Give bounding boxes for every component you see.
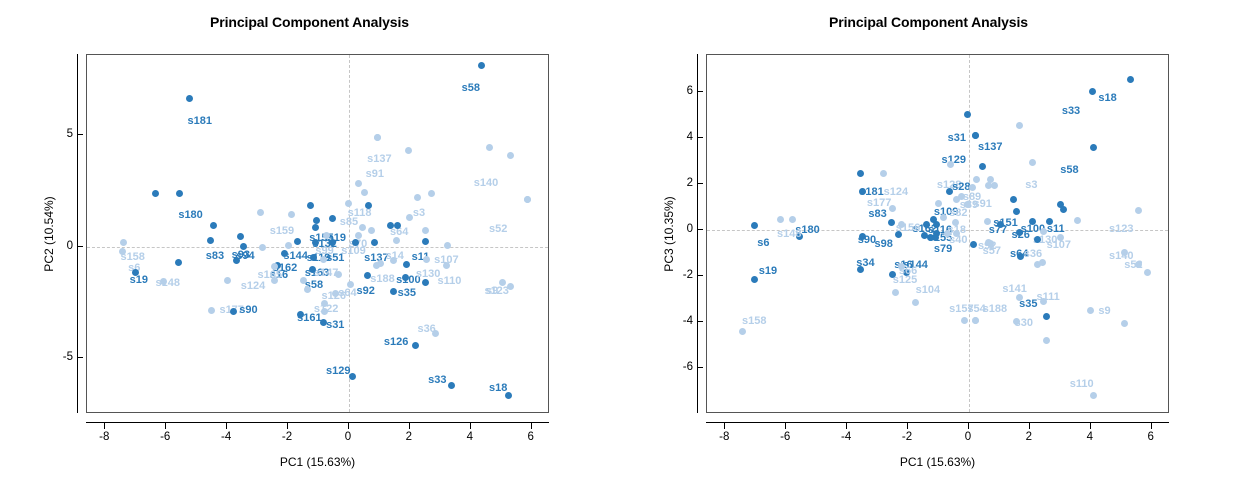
scatter-point[interactable] xyxy=(285,242,292,249)
scatter-point[interactable] xyxy=(935,200,942,207)
scatter-point-label: s177 xyxy=(867,198,891,209)
scatter-point[interactable] xyxy=(393,237,400,244)
scatter-point[interactable] xyxy=(739,328,746,335)
plot-area: s58s181s137s91s140s180s118s3s52s85s159s6… xyxy=(86,54,549,413)
scatter-point-label: s33 xyxy=(428,375,446,386)
scatter-point[interactable] xyxy=(973,176,980,183)
scatter-point[interactable] xyxy=(364,272,371,279)
scatter-point[interactable] xyxy=(312,239,319,246)
y-axis-tick-label: -5 xyxy=(63,351,73,363)
scatter-point-label: s148 xyxy=(777,229,801,240)
scatter-point[interactable] xyxy=(1010,196,1017,203)
x-axis-tick-label: 2 xyxy=(1026,431,1032,443)
gridline-vertical-zero xyxy=(969,55,970,412)
scatter-point-label: s180 xyxy=(178,210,202,221)
scatter-point-label: s159 xyxy=(270,226,294,237)
scatter-point-label: s33 xyxy=(1062,106,1080,117)
scatter-point-label: s161 xyxy=(297,313,321,324)
chart-title: Principal Component Analysis xyxy=(619,14,1238,30)
x-axis-tick-label: -2 xyxy=(282,431,292,443)
scatter-point-label: s18 xyxy=(489,383,507,394)
y-axis-tick xyxy=(697,229,703,230)
scatter-point[interactable] xyxy=(335,271,342,278)
scatter-point[interactable] xyxy=(176,190,183,197)
y-axis-tick-label: 6 xyxy=(687,85,693,97)
scatter-point[interactable] xyxy=(443,262,450,269)
y-axis-tick xyxy=(77,357,83,358)
x-axis-tick xyxy=(409,423,410,429)
scatter-point[interactable] xyxy=(390,257,397,264)
scatter-point[interactable] xyxy=(1060,206,1067,213)
scatter-point[interactable] xyxy=(368,227,375,234)
y-axis-tick xyxy=(697,275,703,276)
scatter-point-label: s141 xyxy=(1002,284,1026,295)
scatter-point[interactable] xyxy=(320,256,327,263)
scatter-point[interactable] xyxy=(208,307,215,314)
scatter-point-label: s79 xyxy=(934,244,952,255)
y-axis-line xyxy=(697,54,698,413)
scatter-point[interactable] xyxy=(888,219,895,226)
scatter-point-label: s107 xyxy=(1047,240,1071,251)
scatter-point-label: s140 xyxy=(474,178,498,189)
scatter-point[interactable] xyxy=(120,239,127,246)
scatter-point[interactable] xyxy=(390,288,397,295)
scatter-point[interactable] xyxy=(403,261,410,268)
scatter-point-label: s110 xyxy=(438,276,462,287)
x-axis-line xyxy=(86,422,549,423)
scatter-point[interactable] xyxy=(406,214,413,221)
x-axis-tick xyxy=(287,423,288,429)
plot-area: s18s33s31s137s129s58s128s28s3s181s124s17… xyxy=(706,54,1169,413)
x-axis-tick xyxy=(1151,423,1152,429)
scatter-point[interactable] xyxy=(300,277,307,284)
scatter-point-label: s90 xyxy=(239,305,257,316)
x-axis-tick-label: 4 xyxy=(467,431,473,443)
scatter-point[interactable] xyxy=(304,286,311,293)
scatter-point-label: s111 xyxy=(1037,292,1060,303)
scatter-point[interactable] xyxy=(428,190,435,197)
scatter-point[interactable] xyxy=(972,132,979,139)
x-axis-tick-label: 2 xyxy=(406,431,412,443)
scatter-point-label: s82 xyxy=(949,208,967,219)
scatter-point[interactable] xyxy=(444,242,451,249)
y-axis-tick xyxy=(77,246,83,247)
scatter-point[interactable] xyxy=(352,239,359,246)
scatter-point[interactable] xyxy=(374,134,381,141)
x-axis-tick-label: -8 xyxy=(719,431,729,443)
x-axis-tick-label: 6 xyxy=(528,431,534,443)
scatter-point-label: s83 xyxy=(868,209,886,220)
y-axis-tick xyxy=(697,137,703,138)
scatter-point[interactable] xyxy=(789,216,796,223)
scatter-point[interactable] xyxy=(486,144,493,151)
scatter-point-label: s26 xyxy=(1012,230,1030,241)
scatter-point[interactable] xyxy=(1127,76,1134,83)
scatter-point-label: s92 xyxy=(357,286,375,297)
x-axis-tick xyxy=(1029,423,1030,429)
y-axis-line xyxy=(77,54,78,413)
x-axis-tick-label: -8 xyxy=(99,431,109,443)
scatter-point[interactable] xyxy=(422,279,429,286)
scatter-point[interactable] xyxy=(359,224,366,231)
scatter-point[interactable] xyxy=(1016,122,1023,129)
scatter-point[interactable] xyxy=(237,233,244,240)
x-axis-tick xyxy=(1090,423,1091,429)
scatter-point[interactable] xyxy=(175,259,182,266)
y-axis-tick-label: 4 xyxy=(687,131,693,143)
scatter-point[interactable] xyxy=(979,163,986,170)
scatter-point[interactable] xyxy=(1121,320,1128,327)
scatter-point[interactable] xyxy=(307,202,314,209)
y-axis-tick-label: 5 xyxy=(67,128,73,140)
scatter-point[interactable] xyxy=(422,227,429,234)
scatter-point[interactable] xyxy=(423,256,430,263)
scatter-point-label: s104 xyxy=(916,285,940,296)
scatter-point-label: s181 xyxy=(187,116,211,127)
scatter-point[interactable] xyxy=(373,262,380,269)
scatter-point-label: s9 xyxy=(1098,306,1110,317)
scatter-point[interactable] xyxy=(1039,259,1046,266)
scatter-point[interactable] xyxy=(777,216,784,223)
scatter-point-label: s58 xyxy=(1060,165,1078,176)
x-axis-tick xyxy=(724,423,725,429)
scatter-point[interactable] xyxy=(751,276,758,283)
scatter-point-label: s148 xyxy=(155,278,179,289)
x-axis-line xyxy=(706,422,1169,423)
scatter-point[interactable] xyxy=(207,237,214,244)
scatter-point[interactable] xyxy=(1144,269,1151,276)
scatter-point[interactable] xyxy=(1090,392,1097,399)
scatter-point[interactable] xyxy=(448,382,455,389)
x-axis-tick xyxy=(785,423,786,429)
x-axis-tick xyxy=(907,423,908,429)
scatter-point[interactable] xyxy=(294,238,301,245)
scatter-point[interactable] xyxy=(371,239,378,246)
x-axis-tick xyxy=(226,423,227,429)
scatter-point[interactable] xyxy=(961,317,968,324)
y-axis-tick-label: -4 xyxy=(683,315,693,327)
scatter-point-label: s188 xyxy=(983,304,1007,315)
x-axis-tick xyxy=(165,423,166,429)
scatter-point[interactable] xyxy=(259,244,266,251)
scatter-point-label: s19 xyxy=(759,266,777,277)
scatter-point-label: s91 xyxy=(366,169,384,180)
y-axis-title: PC2 (10.54%) xyxy=(42,196,56,271)
chart-title: Principal Component Analysis xyxy=(0,14,619,30)
y-axis-tick xyxy=(697,321,703,322)
scatter-point[interactable] xyxy=(405,147,412,154)
scatter-point[interactable] xyxy=(422,238,429,245)
x-axis-tick-label: -4 xyxy=(221,431,231,443)
scatter-point[interactable] xyxy=(946,188,953,195)
scatter-point[interactable] xyxy=(1090,144,1097,151)
scatter-point[interactable] xyxy=(1043,337,1050,344)
x-axis-title: PC1 (15.63%) xyxy=(900,455,975,469)
scatter-point[interactable] xyxy=(288,211,295,218)
scatter-point[interactable] xyxy=(119,248,126,255)
scatter-point-label: s57 xyxy=(983,246,1001,257)
scatter-point[interactable] xyxy=(323,232,330,239)
scatter-point-label: s35 xyxy=(1019,299,1037,310)
scatter-point[interactable] xyxy=(1034,236,1041,243)
x-axis-tick-label: -4 xyxy=(841,431,851,443)
x-axis-tick-label: 0 xyxy=(965,431,971,443)
scatter-point-label: s31 xyxy=(326,320,344,331)
scatter-point-label: s85 xyxy=(340,217,358,228)
x-axis-title: PC1 (15.63%) xyxy=(280,455,355,469)
scatter-point[interactable] xyxy=(947,161,954,168)
scatter-point-label: s31 xyxy=(948,133,966,144)
y-axis-title: PC3 (10.35%) xyxy=(662,196,676,271)
scatter-point-label: s36 xyxy=(417,324,435,335)
scatter-point-label: s6 xyxy=(757,238,769,249)
scatter-point-label: s83 xyxy=(206,251,224,262)
x-axis-tick xyxy=(348,423,349,429)
scatter-point[interactable] xyxy=(912,299,919,306)
y-axis-tick xyxy=(697,183,703,184)
scatter-point-label: s165 xyxy=(258,270,282,281)
scatter-point[interactable] xyxy=(889,205,896,212)
scatter-point-label: s158 xyxy=(742,316,766,327)
y-axis-tick-label: 0 xyxy=(67,240,73,252)
x-axis-tick-label: -2 xyxy=(902,431,912,443)
pca-panel-pc1-pc3: Principal Component Analysis s18s33s31s1… xyxy=(619,0,1238,500)
x-axis-tick xyxy=(104,423,105,429)
scatter-point[interactable] xyxy=(230,308,237,315)
scatter-point-label: s126 xyxy=(384,337,408,348)
scatter-point[interactable] xyxy=(964,201,971,208)
scatter-point-label: s124 xyxy=(241,281,265,292)
scatter-point[interactable] xyxy=(387,222,394,229)
scatter-point[interactable] xyxy=(524,196,531,203)
scatter-point[interactable] xyxy=(507,152,514,159)
scatter-point-label: s77 xyxy=(989,225,1007,236)
scatter-point[interactable] xyxy=(210,222,217,229)
y-axis-tick xyxy=(697,367,703,368)
y-axis-tick xyxy=(697,91,703,92)
scatter-point[interactable] xyxy=(1029,159,1036,166)
x-axis-tick xyxy=(531,423,532,429)
scatter-point[interactable] xyxy=(895,231,902,238)
scatter-point[interactable] xyxy=(751,222,758,229)
scatter-point[interactable] xyxy=(313,217,320,224)
scatter-point[interactable] xyxy=(224,277,231,284)
scatter-point-label: s129 xyxy=(326,366,350,377)
scatter-point[interactable] xyxy=(329,215,336,222)
scatter-point[interactable] xyxy=(233,257,240,264)
scatter-point-label: s98 xyxy=(874,239,892,250)
x-axis-tick-label: -6 xyxy=(780,431,790,443)
x-axis-tick-label: 0 xyxy=(345,431,351,443)
x-axis-tick xyxy=(968,423,969,429)
scatter-point[interactable] xyxy=(309,266,316,273)
scatter-point[interactable] xyxy=(969,184,976,191)
y-axis-tick-label: 2 xyxy=(687,177,693,189)
gridline-vertical-zero xyxy=(349,55,350,412)
scatter-point[interactable] xyxy=(478,62,485,69)
scatter-point[interactable] xyxy=(1135,207,1142,214)
scatter-point[interactable] xyxy=(880,170,887,177)
scatter-point[interactable] xyxy=(152,190,159,197)
scatter-point[interactable] xyxy=(361,189,368,196)
y-axis-tick xyxy=(77,134,83,135)
scatter-point[interactable] xyxy=(414,194,421,201)
x-axis-tick xyxy=(846,423,847,429)
scatter-point[interactable] xyxy=(972,317,979,324)
scatter-point[interactable] xyxy=(412,342,419,349)
scatter-point[interactable] xyxy=(940,214,947,221)
scatter-point-label: s51 xyxy=(326,253,344,264)
scatter-point[interactable] xyxy=(186,95,193,102)
scatter-point-label: s52 xyxy=(489,224,507,235)
scatter-point-label: s52 xyxy=(1124,260,1142,271)
scatter-point[interactable] xyxy=(970,241,977,248)
scatter-point-label: s18 xyxy=(1098,93,1116,104)
scatter-point[interactable] xyxy=(944,230,951,237)
x-axis-tick-label: -6 xyxy=(160,431,170,443)
scatter-point-label: s109 xyxy=(341,246,365,257)
y-axis-tick-label: -6 xyxy=(683,361,693,373)
scatter-point-label: s188 xyxy=(370,274,394,285)
scatter-point[interactable] xyxy=(892,289,899,296)
scatter-point-label: s137 xyxy=(367,154,391,165)
scatter-point[interactable] xyxy=(257,209,264,216)
scatter-point[interactable] xyxy=(1013,208,1020,215)
scatter-point[interactable] xyxy=(312,224,319,231)
scatter-point[interactable] xyxy=(958,193,965,200)
scatter-point[interactable] xyxy=(857,170,864,177)
scatter-point-label: s123 xyxy=(1109,224,1133,235)
scatter-point-label: s110 xyxy=(1070,379,1094,390)
scatter-point[interactable] xyxy=(1089,88,1096,95)
x-axis-tick xyxy=(470,423,471,429)
scatter-point[interactable] xyxy=(991,182,998,189)
scatter-point-label: s9 xyxy=(486,286,498,297)
scatter-point-label: s125 xyxy=(893,275,917,286)
scatter-point[interactable] xyxy=(1087,307,1094,314)
scatter-point[interactable] xyxy=(1043,313,1050,320)
pca-figure: Principal Component Analysis s58s181s137… xyxy=(0,0,1238,500)
scatter-point-label: s19 xyxy=(130,275,148,286)
scatter-point[interactable] xyxy=(345,200,352,207)
scatter-point[interactable] xyxy=(355,180,362,187)
scatter-point[interactable] xyxy=(329,239,336,246)
x-axis-tick-label: 4 xyxy=(1087,431,1093,443)
y-axis-tick-label: -2 xyxy=(683,269,693,281)
y-axis-tick-label: 0 xyxy=(687,223,693,235)
scatter-point-label: s3 xyxy=(1025,180,1037,191)
scatter-point[interactable] xyxy=(1074,217,1081,224)
scatter-point-label: s35 xyxy=(398,288,416,299)
scatter-point-label: s34 xyxy=(856,258,874,269)
x-axis-tick-label: 6 xyxy=(1148,431,1154,443)
scatter-point-label: s58 xyxy=(462,83,480,94)
scatter-point-label: s3 xyxy=(413,208,425,219)
scatter-point-label: s30 xyxy=(1015,318,1033,329)
scatter-point-label: s137 xyxy=(978,142,1002,153)
pca-panel-pc1-pc2: Principal Component Analysis s58s181s137… xyxy=(0,0,619,500)
